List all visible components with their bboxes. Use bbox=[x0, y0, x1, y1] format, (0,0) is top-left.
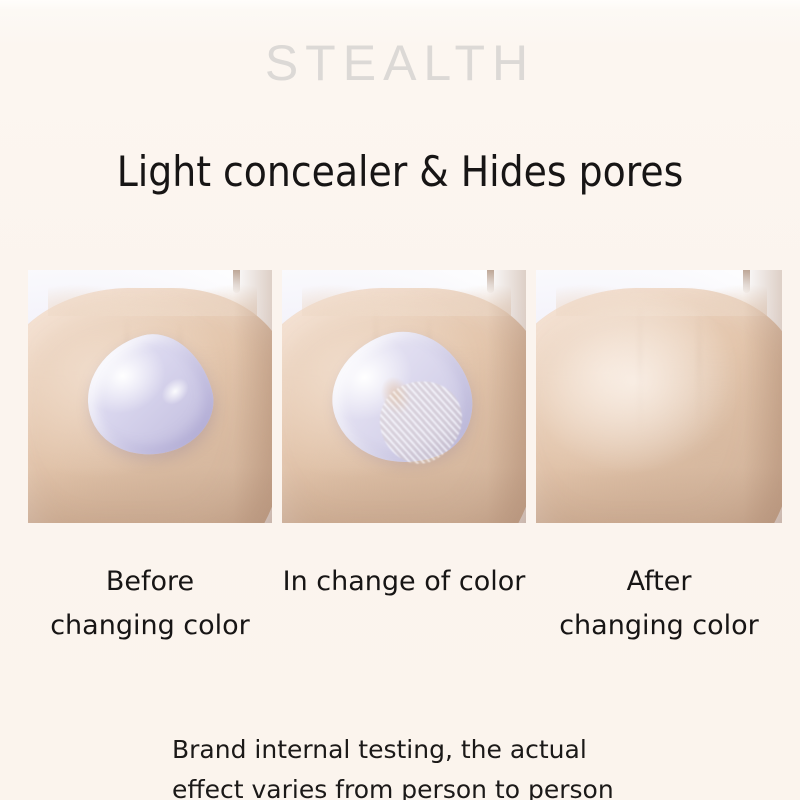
hand-bottom-shadow bbox=[282, 467, 526, 523]
page-title: Light concealer & Hides pores bbox=[0, 148, 800, 195]
blended-skin-glow bbox=[536, 270, 782, 523]
caption-after-line1: After bbox=[536, 560, 782, 604]
product-infographic: STEALTH Light concealer & Hides pores bbox=[0, 0, 800, 800]
caption-after: After changing color bbox=[536, 560, 782, 647]
brand-wordmark: STEALTH bbox=[0, 38, 800, 88]
comparison-image-strip bbox=[28, 270, 782, 523]
disclaimer-line1: Brand internal testing, the actual bbox=[172, 730, 692, 770]
knuckles-shading bbox=[48, 275, 258, 315]
caption-in-change-line1: In change of color bbox=[282, 560, 526, 604]
caption-in-change: In change of color bbox=[282, 560, 526, 647]
caption-before: Before changing color bbox=[28, 560, 272, 647]
panel-image-after bbox=[536, 270, 782, 523]
panel-image-in-change bbox=[282, 270, 526, 523]
cream-gloss-highlight bbox=[155, 372, 198, 415]
panel-image-before bbox=[28, 270, 272, 523]
caption-before-line1: Before bbox=[28, 560, 272, 604]
top-sheen-decoration bbox=[0, 0, 800, 10]
hand-bottom-shadow bbox=[28, 467, 272, 523]
knuckles-shading bbox=[302, 275, 512, 315]
caption-after-line2: changing color bbox=[536, 604, 782, 648]
disclaimer-line2: effect varies from person to person bbox=[172, 770, 692, 800]
caption-before-line2: changing color bbox=[28, 604, 272, 648]
caption-row: Before changing color In change of color… bbox=[28, 560, 782, 647]
disclaimer: Brand internal testing, the actual effec… bbox=[172, 730, 692, 800]
